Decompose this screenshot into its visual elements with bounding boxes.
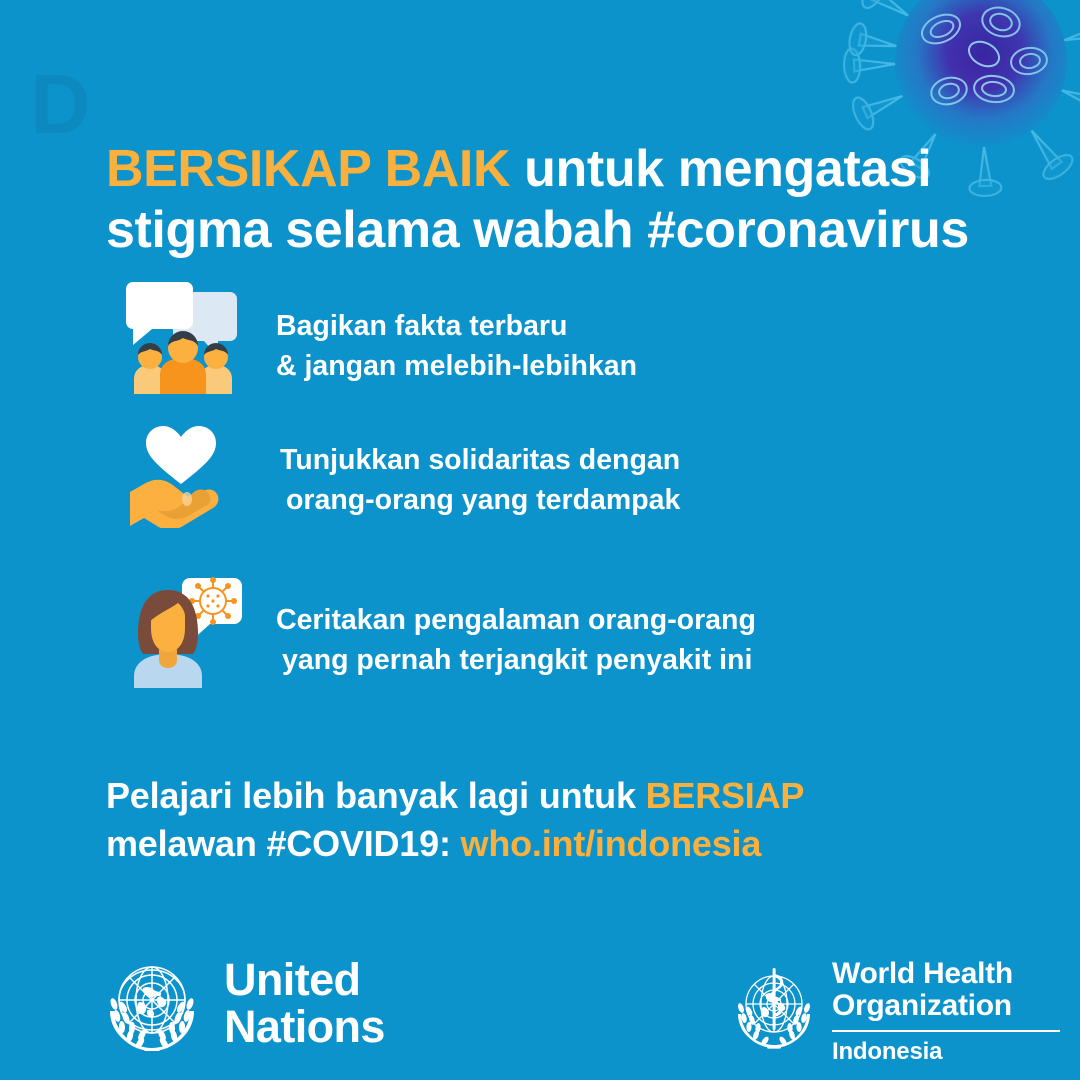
- list-item-line1: Ceritakan pengalaman orang-orang: [276, 604, 756, 636]
- who-emblem-icon: [726, 960, 822, 1056]
- who-divider: [832, 1030, 1060, 1032]
- united-nations-logo: United Nations: [96, 948, 385, 1060]
- un-wordmark-line1: United: [224, 957, 385, 1004]
- list-item-line1: Bagikan fakta terbaru: [276, 310, 567, 342]
- who-country-label: Indonesia: [832, 1038, 1060, 1066]
- list-item-line2: orang-orang yang terdampak: [280, 480, 680, 520]
- headline-rest: untuk mengatasi: [510, 140, 931, 198]
- headline-line2: stigma selama wabah #coronavirus: [106, 201, 969, 259]
- list-item: Ceritakan pengalaman orang-orang yang pe…: [124, 574, 984, 694]
- un-wordmark: United Nations: [224, 957, 385, 1051]
- background-watermark: D: [30, 62, 93, 146]
- un-emblem-icon: [96, 948, 208, 1060]
- list-item: Bagikan fakta terbaru & jangan melebih-l…: [124, 278, 984, 398]
- poster-canvas: D BERSIKAP BAIK untuk mengatasi stigma s…: [0, 0, 1080, 1080]
- who-wordmark-line1: World Health: [832, 958, 1060, 990]
- cta-line2-prefix: melawan #COVID19:: [106, 823, 461, 864]
- headline-accent: BERSIKAP BAIK: [106, 140, 510, 198]
- list-item-line1: Tunjukkan solidaritas dengan: [280, 444, 680, 476]
- list-item-line2: & jangan melebih-lebihkan: [276, 346, 637, 386]
- cta-line1-accent: BERSIAP: [646, 775, 805, 816]
- list-item-text: Ceritakan pengalaman orang-orang yang pe…: [276, 574, 756, 681]
- world-health-organization-logo: World Health Organization Indonesia: [726, 958, 1060, 1066]
- call-to-action: Pelajari lebih banyak lagi untuk BERSIAP…: [106, 772, 1006, 868]
- list-item-line2: yang pernah terjangkit penyakit ini: [276, 640, 756, 680]
- un-wordmark-line2: Nations: [224, 1004, 385, 1051]
- list-item: Tunjukkan solidaritas dengan orang-orang…: [124, 422, 984, 542]
- advice-list: Bagikan fakta terbaru & jangan melebih-l…: [124, 278, 984, 712]
- who-wordmark-line2: Organization: [832, 990, 1060, 1022]
- list-item-text: Bagikan fakta terbaru & jangan melebih-l…: [276, 278, 637, 387]
- woman-virus-bubble-icon: [124, 574, 256, 694]
- cta-website-link[interactable]: who.int/indonesia: [461, 823, 762, 864]
- cta-line1-prefix: Pelajari lebih banyak lagi untuk: [106, 775, 646, 816]
- speech-bubbles-people-icon: [124, 278, 256, 398]
- page-headline: BERSIKAP BAIK untuk mengatasi stigma sel…: [106, 139, 986, 261]
- list-item-text: Tunjukkan solidaritas dengan orang-orang…: [280, 422, 680, 521]
- who-wordmark: World Health Organization Indonesia: [832, 958, 1060, 1066]
- heart-in-hand-icon: [124, 422, 256, 542]
